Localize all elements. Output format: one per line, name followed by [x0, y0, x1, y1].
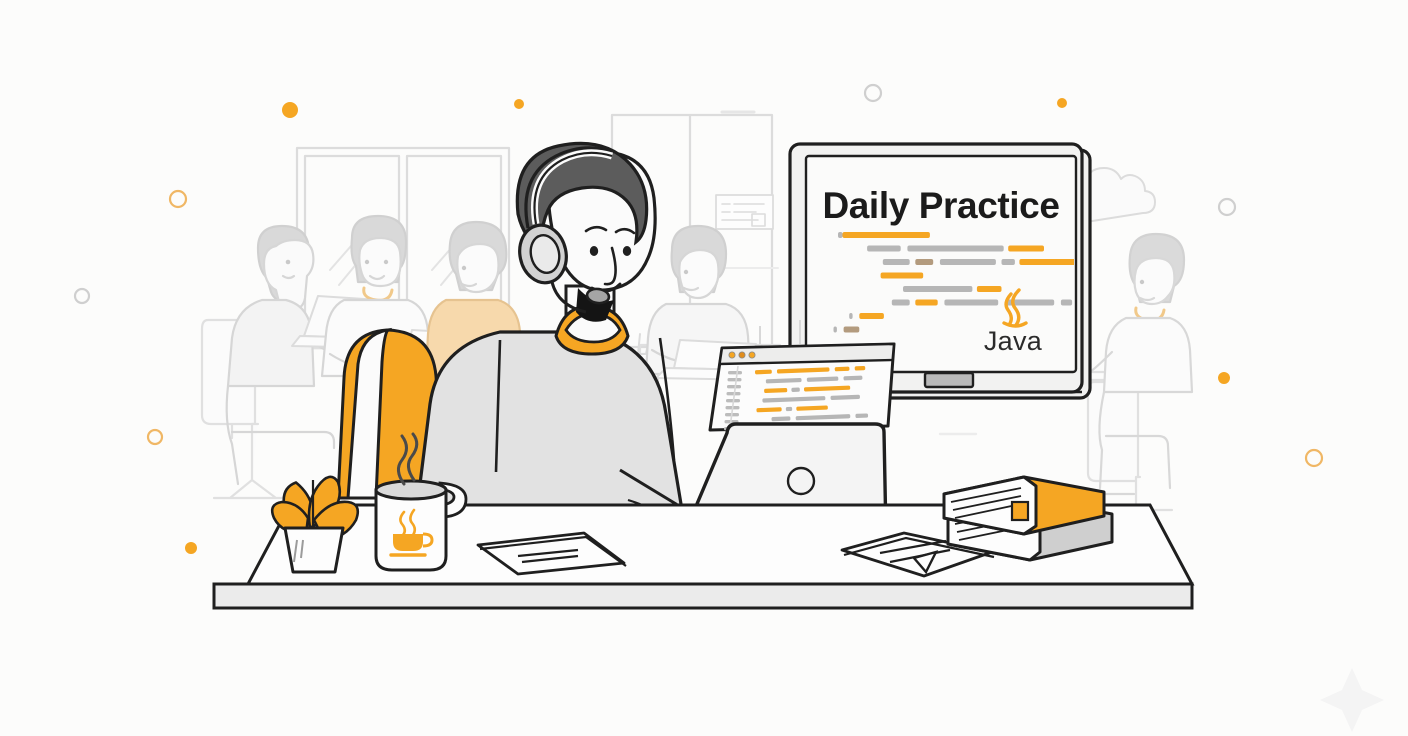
book-stack — [944, 477, 1112, 560]
bookmark — [1012, 502, 1028, 520]
dot-orange-2 — [514, 99, 524, 109]
code-token — [791, 387, 800, 392]
dot-orange-3 — [1057, 98, 1067, 108]
code-token — [849, 313, 852, 319]
illustration-canvas: Daily Practice Java — [0, 0, 1408, 736]
code-token — [944, 300, 998, 306]
monitor-headline: Daily Practice — [822, 185, 1059, 226]
sidebar-bar — [727, 385, 741, 388]
code-token — [903, 286, 972, 292]
mug-body — [376, 490, 446, 570]
java-brand-label: Java — [984, 326, 1043, 356]
mug-rim — [376, 481, 446, 499]
code-token — [883, 259, 910, 265]
monitor-stand-neck — [925, 373, 973, 387]
code-token — [843, 232, 930, 238]
code-token — [855, 413, 868, 418]
code-token — [867, 246, 901, 252]
code-token — [915, 259, 933, 265]
code-token — [1061, 300, 1072, 306]
plant-pot — [285, 528, 343, 572]
close-dot — [729, 352, 735, 358]
code-token — [940, 259, 996, 265]
code-token — [835, 367, 850, 372]
sidebar-bar — [728, 371, 742, 374]
code-token — [834, 327, 837, 333]
code-token — [771, 416, 790, 421]
code-token — [977, 286, 1002, 292]
dot-orange-4 — [1218, 372, 1230, 384]
sidebar-bar — [728, 378, 742, 381]
code-token — [881, 273, 924, 279]
code-token — [1008, 246, 1044, 252]
dot-orange-1 — [282, 102, 298, 118]
code-token — [1002, 259, 1015, 265]
maximize-dot — [749, 352, 755, 358]
code-token — [838, 232, 843, 238]
code-token — [755, 370, 772, 375]
workspace-illustration: Daily Practice Java — [0, 0, 1408, 736]
code-token — [764, 388, 787, 393]
code-token — [786, 407, 792, 411]
code-token — [843, 376, 862, 381]
code-token — [915, 300, 937, 306]
minimize-dot — [739, 352, 745, 358]
code-token — [855, 366, 866, 371]
code-token — [907, 246, 1003, 252]
dot-orange-5 — [185, 542, 197, 554]
code-token — [892, 300, 910, 306]
code-token — [844, 327, 860, 333]
code-token — [859, 313, 884, 319]
poster-card-icon — [716, 195, 773, 229]
